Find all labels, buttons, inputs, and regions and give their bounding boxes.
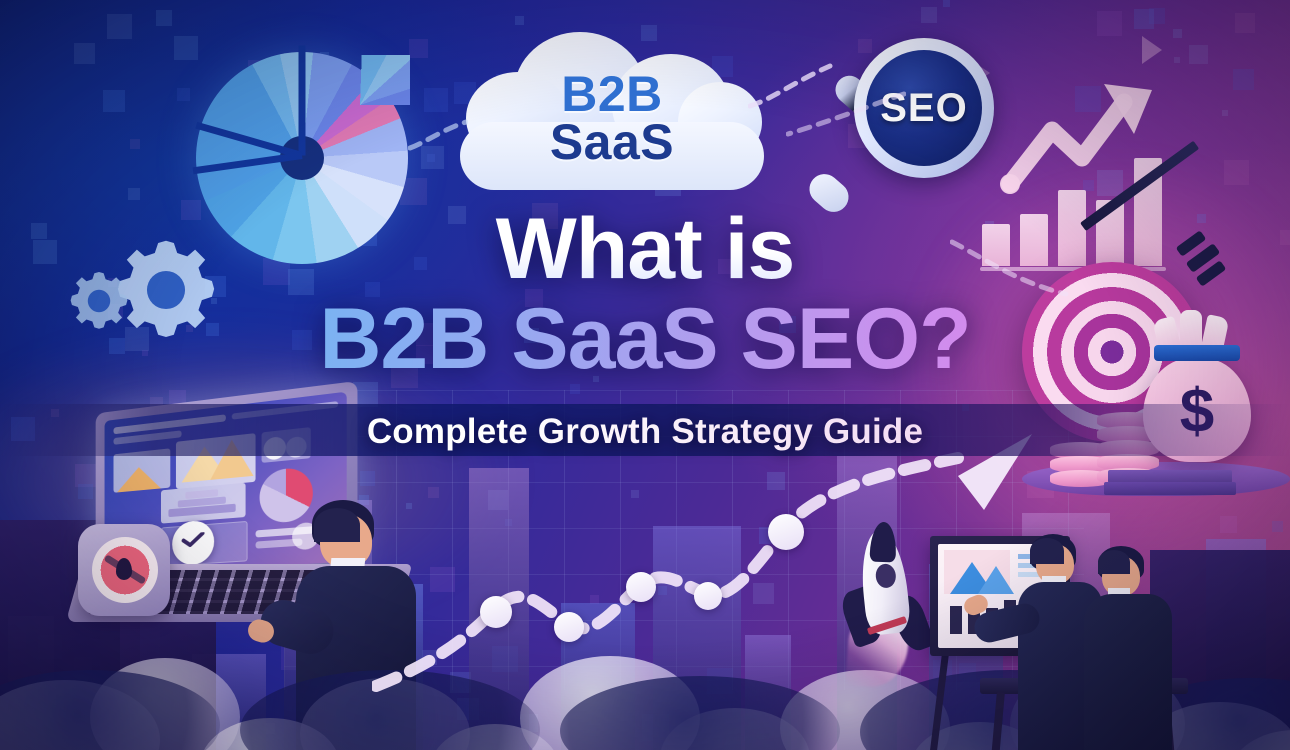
growth-node-5	[768, 514, 804, 550]
colleague-suit	[1084, 594, 1172, 750]
pixel-block	[128, 188, 140, 200]
desk-leg-left	[991, 692, 1005, 750]
book-2	[1104, 482, 1236, 495]
dashed-connector-right	[786, 90, 906, 145]
pixel-block	[103, 90, 125, 112]
dashed-connector-left	[408, 118, 468, 157]
pixel-block	[1224, 160, 1249, 185]
cloud-badge-line1: B2B	[452, 70, 772, 118]
cloud-badge-text: B2B SaaS	[452, 70, 772, 166]
pixel-block	[177, 88, 190, 101]
pixel-block	[515, 16, 524, 25]
headline-line-2: B2B SaaS SEO?	[0, 294, 1290, 384]
pixel-block	[1134, 9, 1154, 29]
pixel-block	[1097, 11, 1122, 36]
pixel-block	[156, 10, 172, 26]
pixel-block	[1233, 69, 1254, 90]
pixel-block	[1174, 57, 1180, 63]
growth-node-4	[694, 582, 722, 610]
triangle-decor-1	[1142, 36, 1162, 64]
businessman-colleague	[1084, 546, 1176, 750]
cloud-badge: B2B SaaS	[452, 26, 772, 198]
pixel-block	[74, 43, 95, 64]
pixel-block	[1222, 110, 1228, 116]
pixel-block	[409, 39, 428, 58]
pixel-block	[174, 36, 198, 60]
headline-line-1: What is	[0, 206, 1290, 292]
pixel-block	[921, 7, 937, 23]
pixel-block	[424, 88, 448, 112]
pixel-block	[943, 0, 950, 7]
pixel-block	[1189, 45, 1208, 64]
hero-banner: $	[0, 0, 1290, 750]
cloud-badge-line2: SaaS	[452, 118, 772, 166]
trend-up-arrow-icon	[1000, 78, 1160, 198]
growth-node-3	[626, 572, 656, 602]
page-subtitle: Complete Growth Strategy Guide	[0, 412, 1290, 452]
pixel-block	[1173, 29, 1182, 38]
screen-area-peak	[117, 465, 161, 492]
person-hair-side	[314, 508, 360, 542]
donut-gap-1	[299, 46, 306, 156]
headline-block: What is B2B SaaS SEO?	[0, 206, 1290, 384]
pixel-block	[107, 14, 132, 39]
pixel-block	[1235, 13, 1255, 33]
speedometer-hub	[116, 558, 132, 580]
pixel-block	[130, 139, 140, 149]
colleague-hair-side	[1098, 550, 1130, 574]
growth-node-2	[554, 612, 584, 642]
growth-node-1	[480, 596, 512, 628]
speedometer-icon	[78, 524, 170, 616]
check-mark	[182, 532, 205, 546]
